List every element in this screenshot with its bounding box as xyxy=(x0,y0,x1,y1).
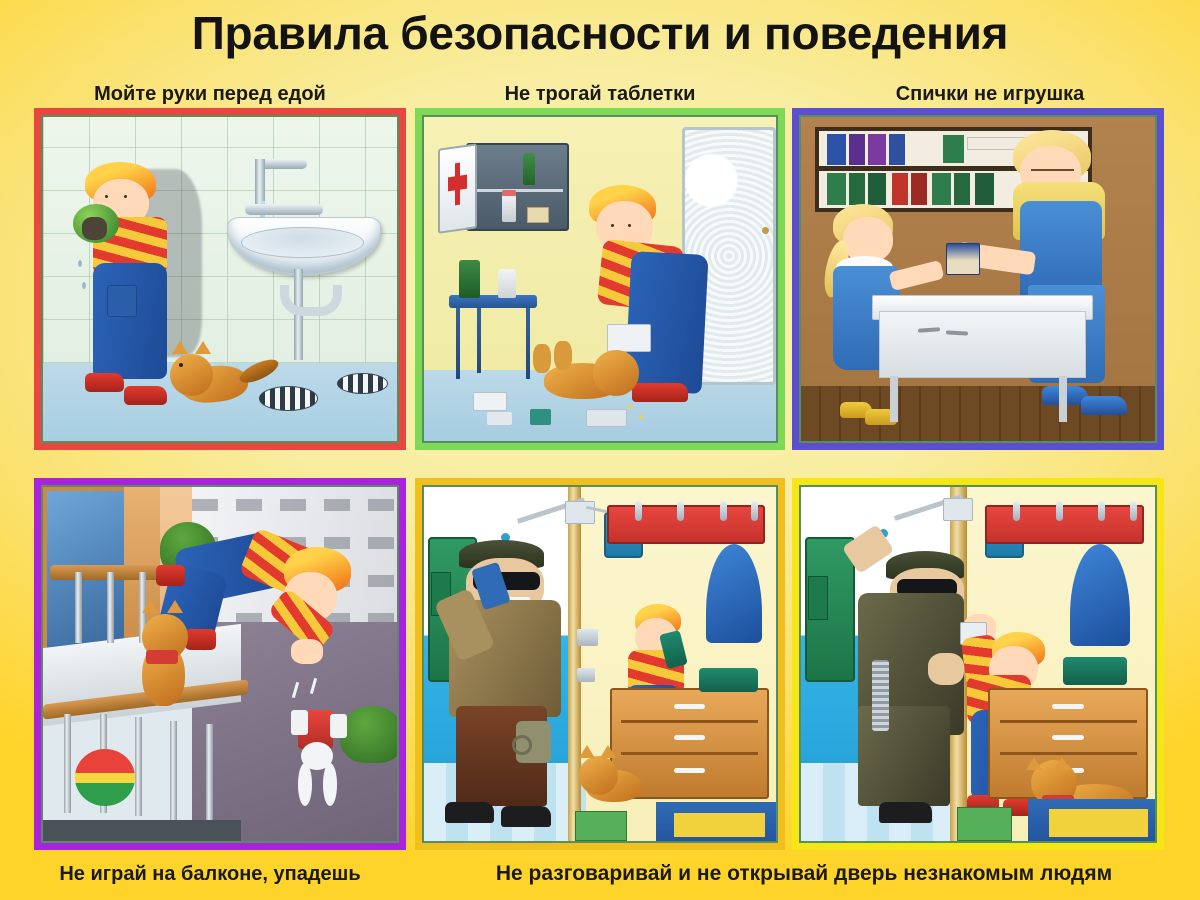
cat-ear-right xyxy=(195,341,211,354)
drawer-handle[interactable] xyxy=(674,704,705,709)
toy-rabbit-paw-left xyxy=(291,710,309,735)
table-leg-3 xyxy=(477,308,481,373)
door-frame xyxy=(568,487,581,841)
telephone-icon[interactable] xyxy=(699,668,759,693)
boy-eye-left xyxy=(105,195,108,198)
caption-balcony: Не играй на балконе, упадешь xyxy=(12,862,408,886)
coat-hook xyxy=(1130,501,1137,521)
cabinet-latch xyxy=(808,576,828,620)
pill-blister-in-hand xyxy=(607,324,651,352)
mother-pinafore xyxy=(1020,201,1101,298)
rail-bar xyxy=(206,724,213,823)
coat-hook xyxy=(720,501,727,521)
panel-wash-hands xyxy=(34,108,406,450)
book xyxy=(892,173,908,206)
stranger-hand xyxy=(928,653,963,685)
toy-rabbit-paw-right xyxy=(330,714,348,739)
rug-yellow xyxy=(1049,809,1148,837)
boy-shoe-left xyxy=(156,565,184,586)
bottle-cap-red xyxy=(502,190,516,196)
cat-ear-right xyxy=(600,745,616,758)
safety-rules-poster: Правила безопасности и поведения Мойте р… xyxy=(0,0,1200,900)
book xyxy=(911,173,927,206)
panel-no-pills xyxy=(415,108,785,450)
stranger-shoe xyxy=(879,802,932,823)
spilled-pill-box-1 xyxy=(473,392,507,410)
cat-ear-right xyxy=(167,600,183,613)
coat-hook xyxy=(1056,501,1063,521)
rail-bar xyxy=(170,721,177,820)
dog-ear-right xyxy=(1054,757,1070,770)
dirty-hand xyxy=(82,217,107,240)
book xyxy=(889,134,905,165)
pill-pack xyxy=(527,207,549,222)
door-mat-green xyxy=(957,807,1012,841)
red-cross-icon-bar xyxy=(448,174,468,191)
faucet-base xyxy=(245,204,323,215)
table-bottle-white xyxy=(498,269,516,298)
panel-no-pills-frame xyxy=(422,115,778,443)
coat-hook xyxy=(751,501,758,521)
drawer-handle[interactable] xyxy=(1052,704,1083,709)
caption-wash-hands: Мойте руки перед едой xyxy=(12,82,408,106)
book xyxy=(827,134,846,165)
rail-bar xyxy=(107,572,114,643)
door-mat-green xyxy=(575,811,626,841)
book xyxy=(849,134,865,165)
lamp-mount xyxy=(565,501,595,524)
medicine-bottle-green xyxy=(523,153,535,185)
sink-bowl xyxy=(241,227,363,258)
bush xyxy=(340,706,397,763)
coat-hook xyxy=(1013,501,1020,521)
ball-icon xyxy=(75,749,135,806)
rail-bar xyxy=(75,572,82,643)
coat-hook xyxy=(677,501,684,521)
match-2 xyxy=(946,330,968,335)
coat-hook xyxy=(1098,501,1105,521)
caption-stranger: Не разговаривай и не открывай дверь незн… xyxy=(420,862,1188,886)
boy-shoe-right xyxy=(185,629,217,650)
medicine-cabinet[interactable] xyxy=(466,143,569,231)
panel-matches xyxy=(792,108,1164,450)
coat-rack xyxy=(985,505,1145,544)
cat-ear-left xyxy=(142,600,158,613)
book xyxy=(975,173,994,206)
cat-head xyxy=(593,350,639,395)
table-bottle-green xyxy=(459,260,480,299)
panel-stranger-talk xyxy=(415,478,785,850)
book xyxy=(827,173,846,206)
floor-mat-1 xyxy=(259,386,318,411)
cabinet-shelf xyxy=(472,189,563,192)
scene-medicine-room xyxy=(424,117,776,441)
lockpick-chain xyxy=(872,660,890,731)
cat-paw-1 xyxy=(533,344,551,373)
toy-rabbit-ear-right xyxy=(323,763,337,805)
page-title: Правила безопасности и поведения xyxy=(0,4,1200,64)
caption-matches: Спички не игрушка xyxy=(792,82,1188,106)
matchbox-icon[interactable] xyxy=(946,243,980,274)
drawer-line xyxy=(621,720,757,723)
panel-wash-hands-frame xyxy=(41,115,399,443)
table-leg-right xyxy=(1059,376,1067,421)
scene-bathroom xyxy=(43,117,397,441)
book xyxy=(954,173,970,206)
cat-head xyxy=(579,756,618,795)
lamp-mount xyxy=(943,498,973,521)
boy-hand xyxy=(291,639,323,664)
caption-no-pills: Не трогай таблетки xyxy=(408,82,792,106)
spilled-pill-box-2 xyxy=(487,412,512,425)
mother-frown xyxy=(1031,169,1073,171)
cat-collar xyxy=(146,650,178,664)
cat-ear-left xyxy=(579,745,595,758)
boy-shoe-left xyxy=(85,373,124,392)
telephone-icon[interactable] xyxy=(1063,657,1127,685)
drawer-line xyxy=(1000,720,1137,723)
door-handle[interactable] xyxy=(577,668,595,682)
crowbar-hook xyxy=(512,735,532,755)
stranger-shoe-left xyxy=(445,802,494,823)
overalls-pocket xyxy=(107,285,137,316)
panel-stranger-door-frame xyxy=(799,485,1157,843)
drawer-handle[interactable] xyxy=(1052,735,1083,740)
scene-balcony xyxy=(43,487,397,841)
rail-bar xyxy=(135,717,142,816)
book xyxy=(849,173,865,206)
panel-balcony xyxy=(34,478,406,850)
cabinet-door[interactable] xyxy=(438,143,477,234)
door-lock[interactable] xyxy=(577,629,598,647)
table-body xyxy=(879,311,1086,378)
boy-overalls xyxy=(93,263,167,380)
table-leg-1 xyxy=(456,308,460,379)
table-leg-left xyxy=(890,376,898,421)
panel-stranger-door xyxy=(792,478,1164,850)
dog-ear-left xyxy=(1026,757,1042,770)
drawer-handle[interactable] xyxy=(674,768,705,773)
cat-head xyxy=(170,354,212,396)
panel-balcony-frame xyxy=(41,485,399,843)
boy-shoes xyxy=(632,383,688,402)
scene-hallway-door xyxy=(801,487,1155,841)
cat-paw-2 xyxy=(554,341,572,370)
spilled-pill-box-3 xyxy=(586,409,627,427)
drawer-line xyxy=(1000,752,1137,755)
balcony-base xyxy=(43,820,241,841)
table-leg-2 xyxy=(526,308,530,379)
scene-living-room xyxy=(801,117,1155,441)
book xyxy=(943,135,965,163)
drawer-line xyxy=(621,752,757,755)
panel-stranger-talk-frame xyxy=(422,485,778,843)
boy-shoe-right xyxy=(124,386,166,405)
toy-rabbit-ear-left xyxy=(298,763,312,805)
rail-bar xyxy=(64,714,71,813)
book xyxy=(868,173,887,206)
medicine-bottle-white xyxy=(502,194,516,223)
boy-eye-left xyxy=(611,224,614,227)
mother-shoe-right xyxy=(1081,396,1127,415)
cat-ear-left xyxy=(172,341,188,354)
pill-2 xyxy=(639,415,643,419)
faucet-spout-icon xyxy=(255,159,265,204)
drawer-handle[interactable] xyxy=(674,735,705,740)
coat-rack xyxy=(607,505,766,544)
p-trap-pipe xyxy=(280,285,342,316)
spilled-jar xyxy=(530,409,551,425)
book xyxy=(868,134,887,165)
rug-yellow xyxy=(674,813,766,838)
scene-hallway-stranger xyxy=(424,487,776,841)
book xyxy=(932,173,951,206)
stranger-shoe-right xyxy=(501,806,550,827)
coat-hook xyxy=(635,501,642,521)
panel-matches-frame xyxy=(799,115,1157,443)
